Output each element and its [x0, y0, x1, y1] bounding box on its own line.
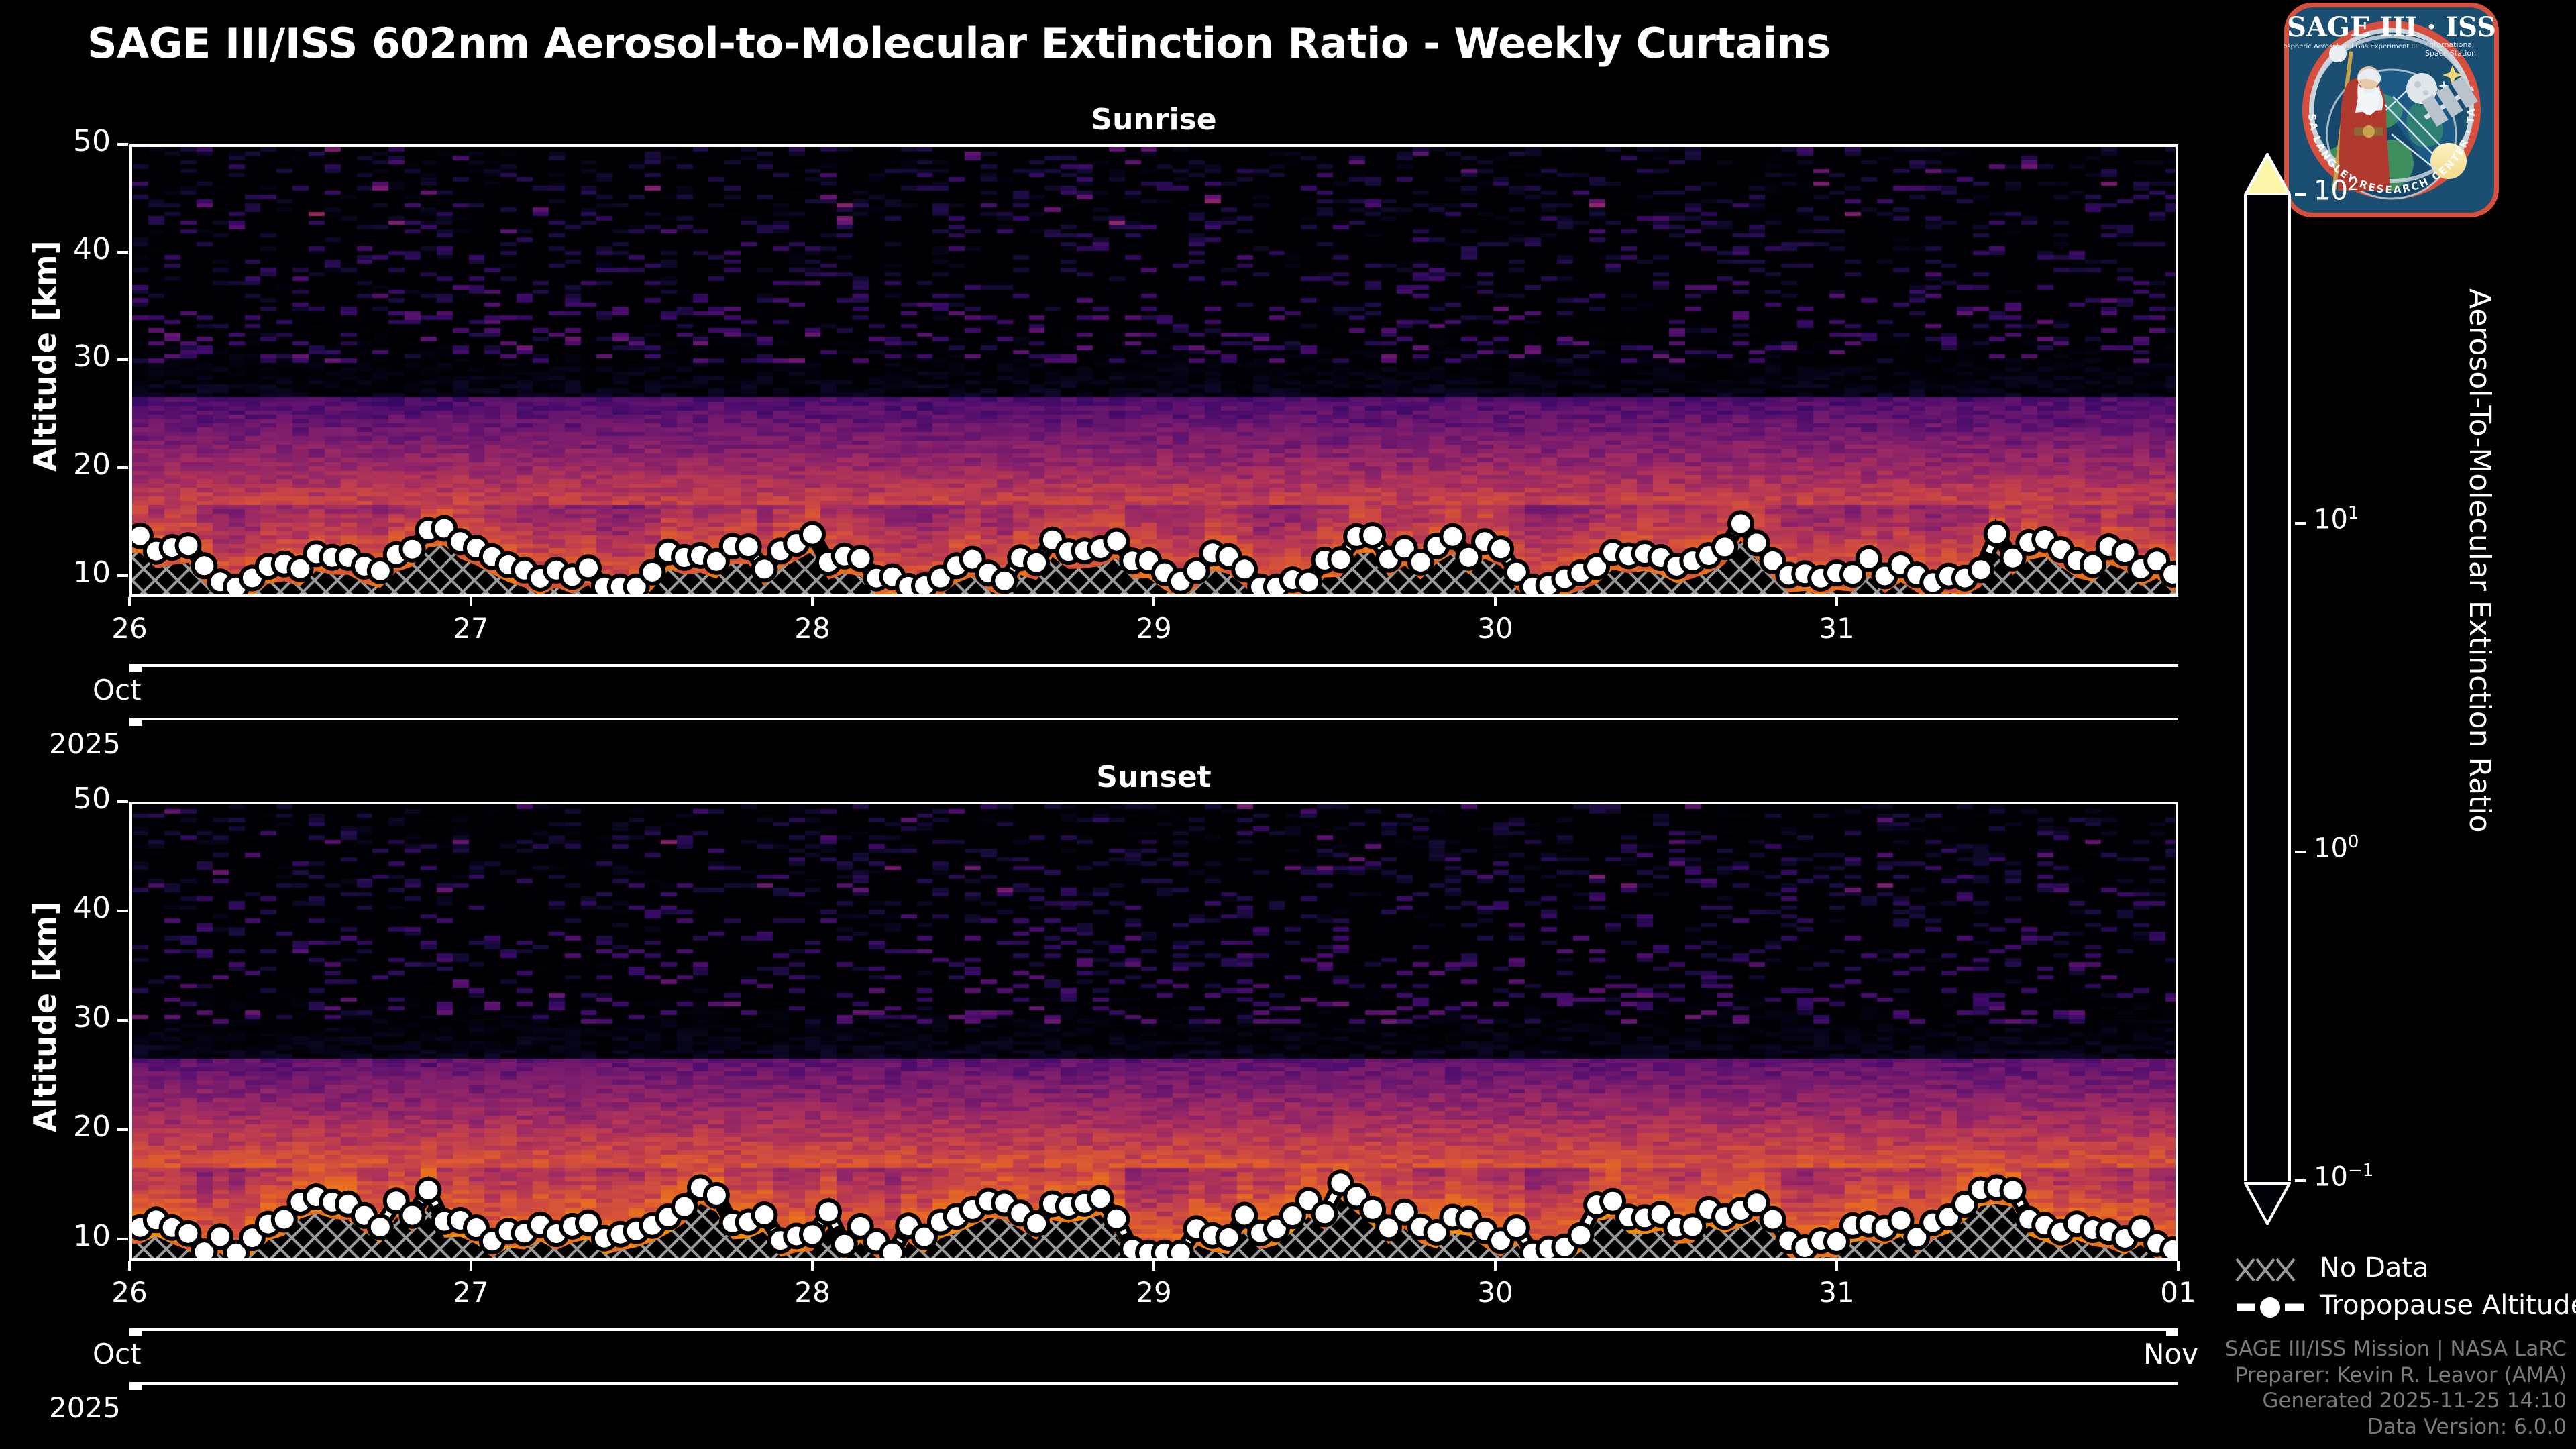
xtick-label-sunset-31: 31 — [1796, 1276, 1877, 1309]
ytick-label-sunset-10: 10 — [73, 1219, 111, 1253]
year-label-sunrise: 2025 — [49, 727, 121, 760]
ytick-label-sunset-50: 50 — [73, 782, 111, 816]
xtick-mark-sunset-30 — [1494, 1261, 1497, 1271]
colorbar-tick-label-2: 102 — [2314, 174, 2359, 206]
xtick-mark-sunrise-30 — [1494, 597, 1497, 606]
heatmap-canvas-sunset — [132, 804, 2178, 1261]
ytick-mark-sunrise-20 — [117, 466, 128, 469]
colorbar-tick-mark-0 — [2295, 851, 2306, 853]
colorbar[interactable] — [2244, 195, 2291, 1181]
xtick-mark-sunrise-31 — [1835, 597, 1838, 606]
svg-text:Stratospheric Aerosol and Gas: Stratospheric Aerosol and Gas Experiment… — [2284, 43, 2417, 50]
colorbar-tick-label-1: 101 — [2314, 503, 2359, 535]
ytick-mark-sunrise-50 — [117, 143, 128, 146]
xtick-label-sunrise-27: 27 — [431, 612, 511, 645]
colorbar-title: Aerosol-To-Molecular Extinction Ratio — [2463, 288, 2497, 833]
colorbar-tick-label-0: 100 — [2314, 832, 2359, 863]
month-label-sunset-nov: Nov — [2143, 1338, 2198, 1371]
heatmap-sunrise[interactable] — [129, 144, 2178, 597]
xtick-mark-sunrise-29 — [1152, 597, 1155, 606]
colorbar-tick-mark-1 — [2295, 522, 2306, 525]
ytick-mark-sunset-20 — [117, 1128, 128, 1131]
ytick-mark-sunrise-40 — [117, 251, 128, 254]
xtick-mark-sunrise-28 — [811, 597, 814, 606]
year-rule-tick-sunset — [129, 1382, 142, 1390]
xtick-label-sunrise-30: 30 — [1455, 612, 1536, 645]
xtick-mark-sunset-27 — [470, 1261, 472, 1271]
heatmap-sunset[interactable] — [129, 802, 2178, 1261]
month-rule-tick-end-sunset — [2166, 1328, 2178, 1336]
xtick-mark-sunset-26 — [128, 1261, 131, 1271]
month-label-sunset-oct: Oct — [93, 1338, 142, 1371]
legend: No Data Tropopause Altitude — [2234, 1251, 2556, 1326]
xtick-mark-sunset-31 — [1835, 1261, 1838, 1271]
legend-label-tropopause: Tropopause Altitude — [2320, 1290, 2576, 1321]
legend-label-no-data: No Data — [2320, 1252, 2429, 1283]
month-label-sunrise-oct: Oct — [93, 674, 142, 706]
svg-text:Space Station: Space Station — [2425, 49, 2476, 58]
xtick-mark-sunrise-26 — [128, 597, 131, 606]
heatmap-canvas-sunrise — [132, 147, 2178, 597]
xtick-mark-sunset-01 — [2177, 1261, 2180, 1271]
xtick-label-sunset-27: 27 — [431, 1276, 511, 1309]
ytick-mark-sunset-40 — [117, 910, 128, 912]
ytick-label-sunset-40: 40 — [73, 891, 111, 925]
footer-line-preparer: Preparer: Kevin R. Leavor (AMA) — [2225, 1362, 2567, 1388]
colorbar-extend-bottom-arrow — [2244, 1181, 2291, 1225]
no-data-hatch-icon — [2234, 1251, 2308, 1289]
ytick-label-sunrise-30: 30 — [73, 339, 111, 374]
year-label-sunset: 2025 — [49, 1391, 121, 1424]
month-rule-sunrise — [129, 664, 2178, 667]
panel-sunset: Sunset — [129, 802, 2178, 1261]
footer-line-mission: SAGE III/ISS Mission | NASA LaRC — [2225, 1336, 2567, 1362]
month-rule-tick-start-sunrise — [129, 664, 142, 672]
month-rule-tick-start-sunset — [129, 1328, 142, 1336]
xtick-label-sunrise-29: 29 — [1114, 612, 1194, 645]
legend-item-no-data[interactable]: No Data — [2234, 1251, 2556, 1289]
ytick-label-sunset-20: 20 — [73, 1110, 111, 1144]
yaxis-label-sunrise: Altitude [km] — [27, 240, 63, 472]
ytick-mark-sunrise-10 — [117, 574, 128, 577]
colorbar-tick-mark-2 — [2295, 193, 2306, 196]
ytick-mark-sunset-10 — [117, 1238, 128, 1240]
xtick-label-sunset-26: 26 — [89, 1276, 170, 1309]
month-rule-sunset — [129, 1328, 2178, 1331]
year-rule-tick-sunrise — [129, 718, 142, 726]
ytick-mark-sunrise-30 — [117, 358, 128, 361]
xtick-mark-sunset-29 — [1152, 1261, 1155, 1271]
xtick-label-sunrise-31: 31 — [1796, 612, 1877, 645]
svg-text:International: International — [2427, 40, 2474, 49]
colorbar-tick-label-−1: 10−1 — [2314, 1161, 2373, 1192]
ytick-label-sunrise-10: 10 — [73, 555, 111, 590]
figure-title: SAGE III/ISS 602nm Aerosol-to-Molecular … — [87, 19, 1831, 68]
year-rule-sunrise — [129, 718, 2178, 720]
xtick-label-sunrise-26: 26 — [89, 612, 170, 645]
colorbar-gradient — [2244, 195, 2291, 1181]
xtick-label-sunset-29: 29 — [1114, 1276, 1194, 1309]
footer-line-generated: Generated 2025-11-25 14:10 — [2225, 1388, 2567, 1413]
footer-credits: SAGE III/ISS Mission | NASA LaRC Prepare… — [2225, 1336, 2567, 1440]
footer-line-version: Data Version: 6.0.0 — [2225, 1414, 2567, 1440]
tropopause-line-icon — [2234, 1289, 2308, 1326]
xtick-mark-sunset-28 — [811, 1261, 814, 1271]
ytick-label-sunset-30: 30 — [73, 1000, 111, 1034]
xtick-label-sunset-30: 30 — [1455, 1276, 1536, 1309]
svg-text:SAGE III · ISS: SAGE III · ISS — [2287, 11, 2496, 43]
ytick-mark-sunset-30 — [117, 1019, 128, 1022]
yaxis-label-sunset: Altitude [km] — [27, 901, 63, 1132]
ytick-label-sunrise-20: 20 — [73, 447, 111, 482]
xtick-label-sunset-01: 01 — [2138, 1276, 2218, 1309]
panel-title-sunrise: Sunrise — [129, 103, 2178, 137]
panel-title-sunset: Sunset — [129, 760, 2178, 794]
ytick-label-sunrise-50: 50 — [73, 124, 111, 158]
xtick-label-sunrise-28: 28 — [772, 612, 853, 645]
figure-canvas: SAGE III/ISS 602nm Aerosol-to-Molecular … — [0, 0, 2576, 1449]
colorbar-extend-top-arrow — [2244, 153, 2291, 197]
colorbar-tick-mark-−1 — [2295, 1179, 2306, 1182]
legend-item-tropopause[interactable]: Tropopause Altitude — [2234, 1289, 2556, 1326]
panel-sunrise: Sunrise — [129, 144, 2178, 597]
ytick-label-sunrise-40: 40 — [73, 232, 111, 266]
year-rule-sunset — [129, 1382, 2178, 1385]
xtick-mark-sunrise-27 — [470, 597, 472, 606]
ytick-mark-sunset-50 — [117, 800, 128, 803]
xtick-label-sunset-28: 28 — [772, 1276, 853, 1309]
